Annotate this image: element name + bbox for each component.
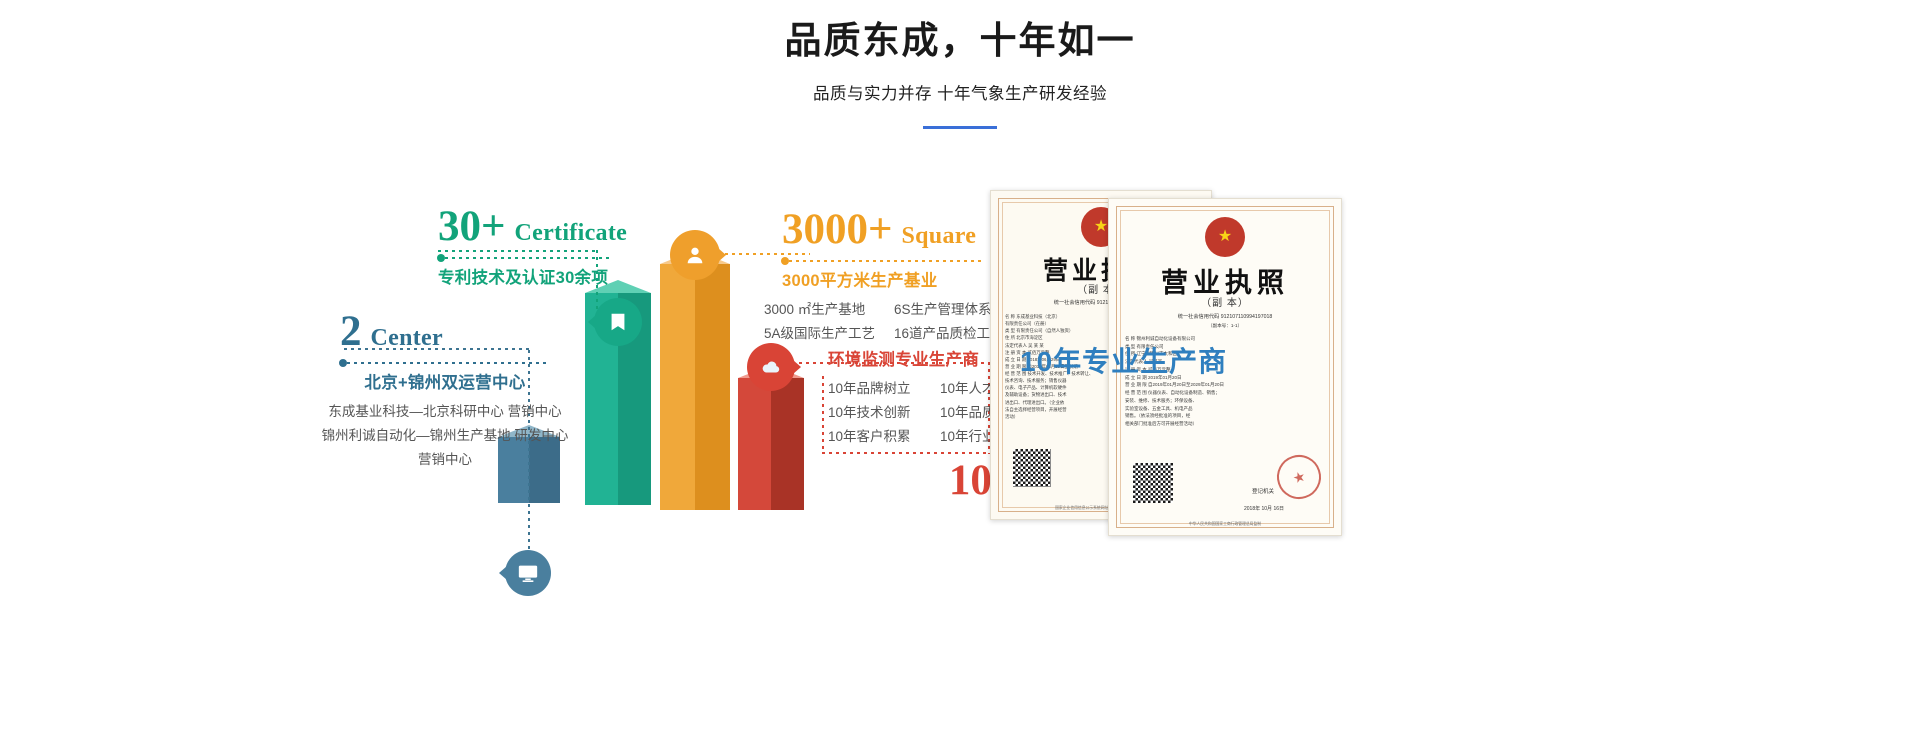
certificate-front-date: 2018年 10月 16日 (1209, 505, 1319, 512)
stat-certificate-unit: Certificate (515, 220, 628, 247)
stat-certificate: 30+ Certificate 专利技术及认证30余项 (438, 205, 610, 288)
certificate-front-code: 统一社会信用代码 912107110994197018 (1109, 313, 1341, 320)
page-header: 品质东成，十年如一 品质与实力并存 十年气象生产研发经验 (0, 0, 1920, 129)
stat-square-detail-grid: 3000 ㎡生产基地 6S生产管理体系 5A级国际生产工艺 16道产品质检工序 (764, 298, 1016, 346)
list-item: 10年客户积累 (828, 425, 930, 449)
table-row: 销售。（依法须经批准的项目，经 (1125, 412, 1224, 420)
table-row: 仪表、电子产品、计算机软硬件 (1005, 384, 1093, 391)
stat-certificate-divider (438, 257, 610, 259)
certificates-overlay-label: 10年专业生产商 (1020, 340, 1227, 380)
list-item: 5A级国际生产工艺 (764, 322, 882, 346)
stat-certificate-subtitle: 专利技术及认证30余项 (438, 264, 610, 288)
list-item: 10年品牌树立 (828, 377, 930, 401)
table-row: 名 称 东成基业科技（北京） (1005, 313, 1093, 320)
stat-center-divider (340, 362, 546, 364)
stat-center-unit: Center (371, 325, 443, 352)
table-row: 安装、维修、技术服务；环保设备、 (1125, 397, 1224, 405)
page-subtitle: 品质与实力并存 十年气象生产研发经验 (0, 80, 1920, 104)
stat-square-unit: Square (902, 223, 977, 250)
certificate-front-serial: （副本号：1-1） (1109, 323, 1341, 329)
bar-square-right-face (695, 264, 730, 510)
bar-square (660, 250, 730, 510)
table-row: 活动） (1005, 413, 1093, 420)
stat-square-number: 3000+ (782, 208, 893, 251)
list-item: 营销中心 (250, 448, 640, 472)
bar-square-left-face (660, 264, 695, 510)
table-row: 法自主选择经营项目，开展经营 (1005, 406, 1093, 413)
table-row: 实验室设备、五金工具、机电产品 (1125, 405, 1224, 413)
certificate-front-authority: 登记机关 (1227, 487, 1299, 495)
stat-center-detail-list: 东成基业科技—北京科研中心 营销中心 锦州利诚自动化—锦州生产基地 研发中心 营… (250, 400, 640, 472)
stat-center-subtitle: 北京+锦州双运营中心 (340, 369, 550, 393)
table-row: 经 营 范 围 仪器仪表、自动化设备制造、销售； (1125, 389, 1224, 397)
table-row: 及辅助设备；货物进出口、技术 (1005, 391, 1093, 398)
table-row: 类 型 有限责任公司（自然人独资） (1005, 327, 1093, 334)
bar-year-left-face (738, 378, 771, 510)
stat-year-number: 10 (949, 459, 992, 502)
stat-center-number: 2 (340, 310, 362, 353)
promo-page: 品质东成，十年如一 品质与实力并存 十年气象生产研发经验 (0, 0, 1920, 747)
infographic-stage: 2 Center 北京+锦州双运营中心 东成基业科技—北京科研中心 营销中心 锦… (0, 150, 1920, 610)
stat-certificate-number: 30+ (438, 205, 506, 248)
page-title: 品质东成，十年如一 (0, 18, 1920, 64)
book-icon (594, 298, 642, 346)
list-item: 锦州利诚自动化—锦州生产基地 研发中心 (250, 424, 640, 448)
stat-square-divider (782, 260, 984, 262)
national-emblem-icon: ★ (1205, 217, 1245, 257)
table-row: 相关部门批准后方可开展经营活动） (1125, 420, 1224, 428)
certificate-back-qr-code (1013, 449, 1051, 487)
certificate-front-footer: 中华人民共和国国家工商行政管理总局监制 (1109, 522, 1341, 527)
table-row: 进出口、代理进出口。（企业依 (1005, 399, 1093, 406)
list-item: 东成基业科技—北京科研中心 营销中心 (250, 400, 640, 424)
certificate-front-subtitle: （副 本） (1109, 294, 1341, 309)
title-underline-rule (923, 126, 997, 129)
stat-center: 2 Center 北京+锦州双运营中心 东成基业科技—北京科研中心 营销中心 锦… (340, 310, 550, 472)
list-item: 3000 ㎡生产基地 (764, 298, 882, 322)
certificate-front-qr-code (1133, 463, 1173, 503)
table-row: 有限责任公司（在册） (1005, 320, 1093, 327)
table-row: 营 业 期 限 自2019年01月20日至2029年01月20日 (1125, 381, 1224, 389)
cloud-icon (747, 343, 795, 391)
list-item: 10年技术创新 (828, 401, 930, 425)
user-icon (670, 230, 720, 280)
monitor-icon (505, 550, 551, 596)
